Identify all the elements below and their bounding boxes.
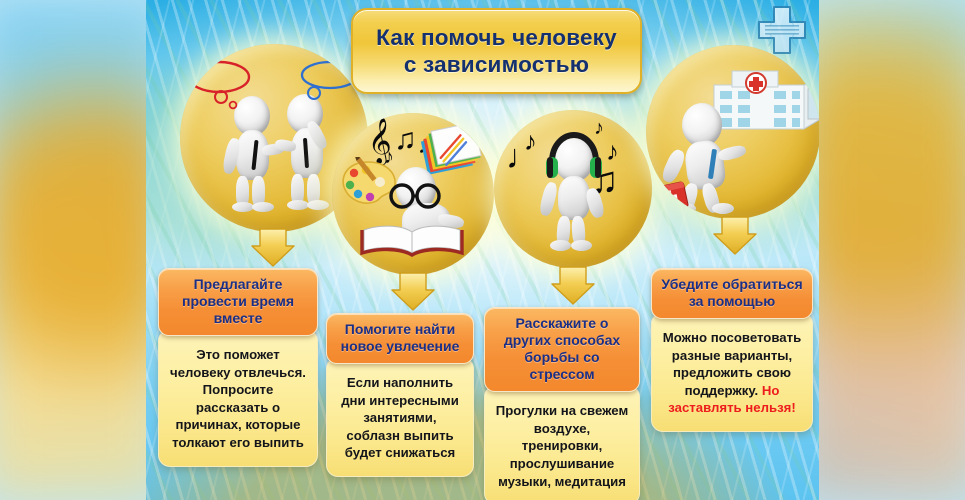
- left-blur-backdrop: [0, 0, 170, 500]
- advice-card-1[interactable]: Предлагайте провести время вместе Это по…: [158, 268, 318, 467]
- thought-bubble-red: [186, 60, 256, 110]
- figure-person-right: [279, 94, 339, 214]
- advice-card-3-header: Расскажите о других способах борьбы со с…: [484, 307, 640, 392]
- figure-person-left: [222, 96, 282, 214]
- poster-title-line-1: Как помочь человеку: [376, 25, 617, 50]
- advice-card-2[interactable]: Помогите найти новое увлечение Если напо…: [326, 313, 474, 477]
- first-aid-kit-icon: [646, 177, 690, 215]
- illustration-circle-reading-hobby: 𝄞 ♫ ♪ ♪: [332, 113, 494, 275]
- advice-card-3[interactable]: Расскажите о других способах борьбы со с…: [484, 307, 640, 500]
- illustration-circle-doctor-hospital: [646, 45, 819, 219]
- advice-card-2-text: Если наполнить дни интересными занятиями…: [341, 375, 459, 460]
- down-arrow-4: [712, 216, 758, 256]
- illustration-circle-music-headphones: ♩ ♪ ♪ ♪ ♫: [494, 110, 652, 268]
- medical-cross-logo: [756, 4, 808, 56]
- advice-card-4[interactable]: Убедите обратиться за помощью Можно посо…: [651, 268, 813, 432]
- advice-card-2-header: Помогите найти новое увлечение: [326, 313, 474, 364]
- advice-card-4-header: Убедите обратиться за помощью: [651, 268, 813, 319]
- advice-card-3-text: Прогулки на свежем воздухе, тренировки, …: [496, 403, 628, 488]
- down-arrow-3: [550, 266, 596, 306]
- figure-music-listener: [538, 132, 610, 252]
- figure-doctor: [668, 103, 760, 211]
- poster-title: Как помочь человеку с зависимостью: [351, 8, 642, 94]
- advice-card-4-text: Можно посоветовать разные варианты, пред…: [663, 330, 801, 398]
- down-arrow-2: [390, 272, 436, 312]
- advice-card-4-body: Можно посоветовать разные варианты, пред…: [651, 312, 813, 432]
- glasses-icon: [388, 183, 444, 209]
- advice-card-1-body: Это поможет человеку отвлечься. Попросит…: [158, 329, 318, 466]
- advice-card-1-header: Предлагайте провести время вместе: [158, 268, 318, 336]
- poster-stage: Как помочь человеку с зависимостью: [0, 0, 965, 500]
- advice-card-1-text: Это поможет человеку отвлечься. Попросит…: [170, 347, 306, 450]
- down-arrow-1: [250, 228, 296, 268]
- music-note-icon: ♪: [524, 128, 537, 154]
- infographic-panel: Как помочь человеку с зависимостью: [146, 0, 819, 500]
- advice-card-3-body: Прогулки на свежем воздухе, тренировки, …: [484, 385, 640, 500]
- music-note-icon: ♫: [394, 125, 417, 155]
- right-blur-backdrop: [795, 0, 965, 500]
- headphones-icon: [544, 132, 604, 184]
- poster-title-line-2: с зависимостью: [404, 52, 589, 77]
- advice-card-2-body: Если наполнить дни интересными занятиями…: [326, 357, 474, 477]
- open-book-icon: [360, 223, 464, 259]
- poster-title-text: Как помочь человеку с зависимостью: [366, 24, 627, 79]
